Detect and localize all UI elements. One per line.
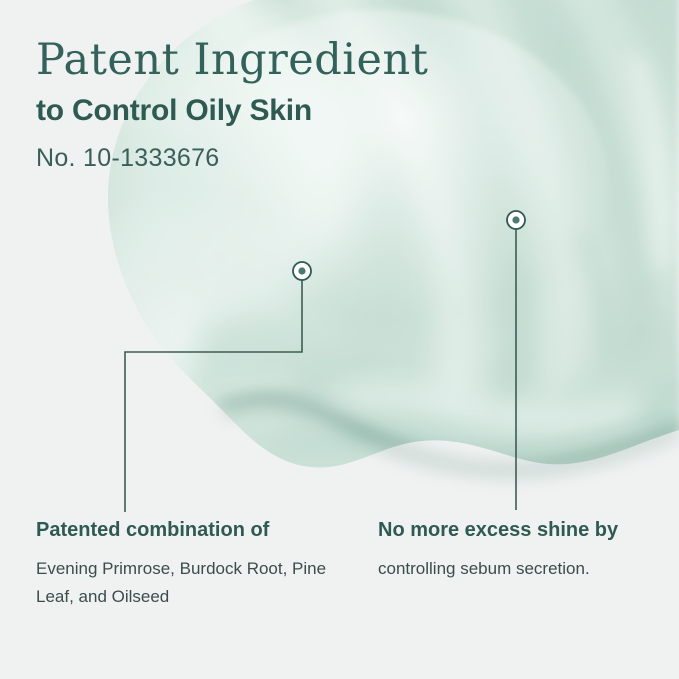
leader-line-left — [125, 280, 302, 512]
callout-left-heading: Patented combination of — [36, 518, 346, 543]
callout-right: No more excess shine by controlling sebu… — [378, 518, 668, 583]
callout-right-heading: No more excess shine by — [378, 518, 668, 543]
promotional-graphic: Patent Ingredient to Control Oily Skin N… — [0, 0, 679, 679]
callout-left-body: Evening Primrose, Burdock Root, Pine Lea… — [36, 555, 346, 610]
callout-right-body: controlling sebum secretion. — [378, 555, 668, 583]
callout-left: Patented combination of Evening Primrose… — [36, 518, 346, 610]
marker-right[interactable] — [507, 211, 525, 229]
marker-left[interactable] — [293, 262, 311, 280]
